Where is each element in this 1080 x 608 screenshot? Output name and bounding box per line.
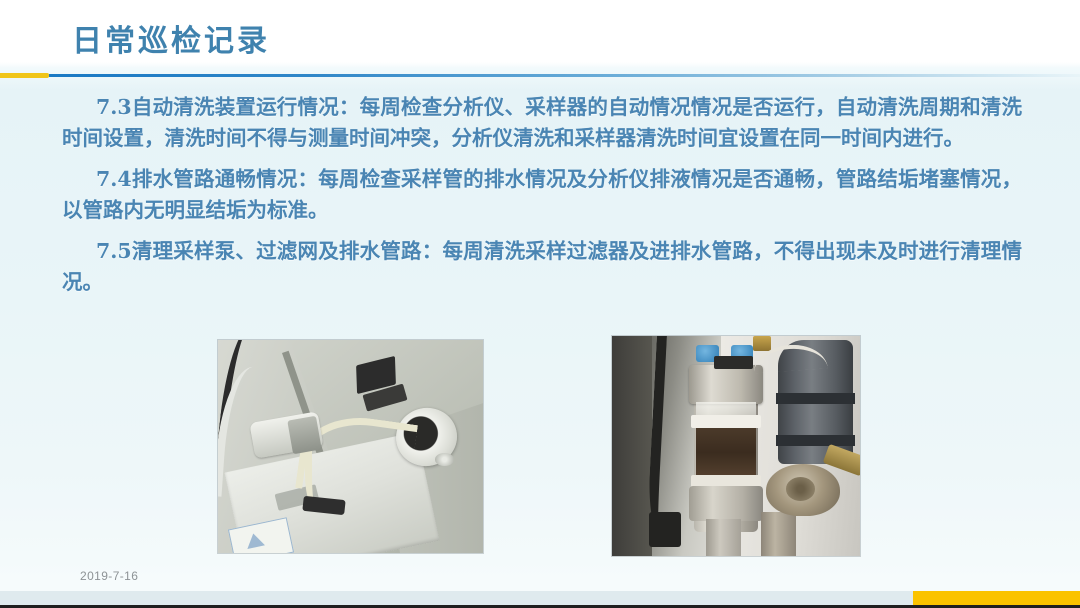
paragraph-7-3: 7.3自动清洗装置运行情况：每周检查分析仪、采样器的自动情况情况是否运行，自动清… xyxy=(62,92,1022,154)
header-divider xyxy=(0,72,1080,78)
paragraph-7-5: 7.5清理采样泵、过滤网及排水管路：每周清洗采样过滤器及进排水管路，不得出现未及… xyxy=(62,236,1022,298)
photo-filter-ring-upper xyxy=(691,415,760,428)
photo-black-hose-foot xyxy=(649,512,681,547)
photo-filter-stem xyxy=(706,519,741,556)
photo-filter-top-cap xyxy=(689,365,763,405)
photo-filter-sediment xyxy=(696,428,756,476)
filter-drain-photo xyxy=(612,336,860,556)
slide-date: 2019-7-16 xyxy=(80,569,138,583)
photo-dark-column xyxy=(612,336,652,556)
photo-pipe-band-lower xyxy=(776,435,855,446)
analyzer-tubing-photo xyxy=(218,340,483,553)
divider-blue-segment xyxy=(49,74,1080,77)
photo-fitting-nut xyxy=(287,415,322,454)
photo-valve-hub xyxy=(786,477,816,501)
slide-root: 日常巡检记录 7.3自动清洗装置运行情况：每周检查分析仪、采样器的自动情况情况是… xyxy=(0,0,1080,608)
photo-black-connector xyxy=(714,356,754,369)
page-title: 日常巡检记录 xyxy=(72,16,270,60)
divider-gold-segment xyxy=(0,73,49,78)
slide-header: 日常巡检记录 xyxy=(0,0,1080,72)
photo-bottom-pipe xyxy=(761,512,796,556)
body-content: 7.3自动清洗装置运行情况：每周检查分析仪、采样器的自动情况情况是否运行，自动清… xyxy=(62,92,1022,304)
footer-gold-accent xyxy=(913,591,1080,605)
photo-filter-bottom-cap xyxy=(689,486,763,521)
photo-pipe-band-upper xyxy=(776,393,855,404)
paragraph-7-4: 7.4排水管路通畅情况：每周检查采样管的排水情况及分析仪排液情况是否通畅，管路结… xyxy=(62,164,1022,226)
photo-brass-fitting xyxy=(753,336,770,351)
photo-panel-screw xyxy=(435,453,454,466)
